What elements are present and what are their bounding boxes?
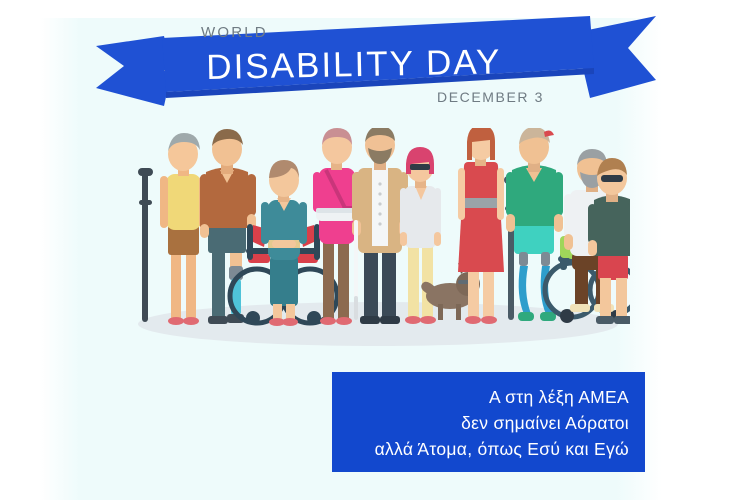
figure-athlete-blade-prostheses bbox=[506, 128, 563, 321]
message-line-1: Α στη λέξη ΑΜΕΑ bbox=[489, 385, 629, 411]
background-fade-left bbox=[40, 0, 80, 500]
people-illustration bbox=[120, 128, 630, 353]
dark-glasses-icon bbox=[601, 175, 623, 182]
ribbon-date-text: DECEMBER 3 bbox=[437, 89, 544, 105]
message-line-2: δεν σημαίνει Αόρατοι bbox=[461, 411, 629, 437]
figure-bearded-man-cane bbox=[352, 128, 408, 324]
ribbon-eyebrow-text: WORLD bbox=[201, 24, 268, 41]
white-cane bbox=[354, 220, 358, 320]
sunglasses-icon bbox=[410, 164, 430, 170]
poster-canvas: WORLD DISABILITY DAY DECEMBER 3 bbox=[0, 0, 750, 500]
page-title: DISABILITY DAY bbox=[206, 44, 502, 85]
greek-message-box: Α στη λέξη ΑΜΕΑ δεν σημαίνει Αόρατοι αλλ… bbox=[332, 372, 645, 472]
crutch-left bbox=[138, 168, 153, 322]
figure-elderly-woman-crutch bbox=[138, 133, 207, 325]
message-line-3: αλλά Άτομα, όπως Εσύ και Εγώ bbox=[375, 437, 629, 463]
illustration-svg bbox=[120, 128, 630, 353]
